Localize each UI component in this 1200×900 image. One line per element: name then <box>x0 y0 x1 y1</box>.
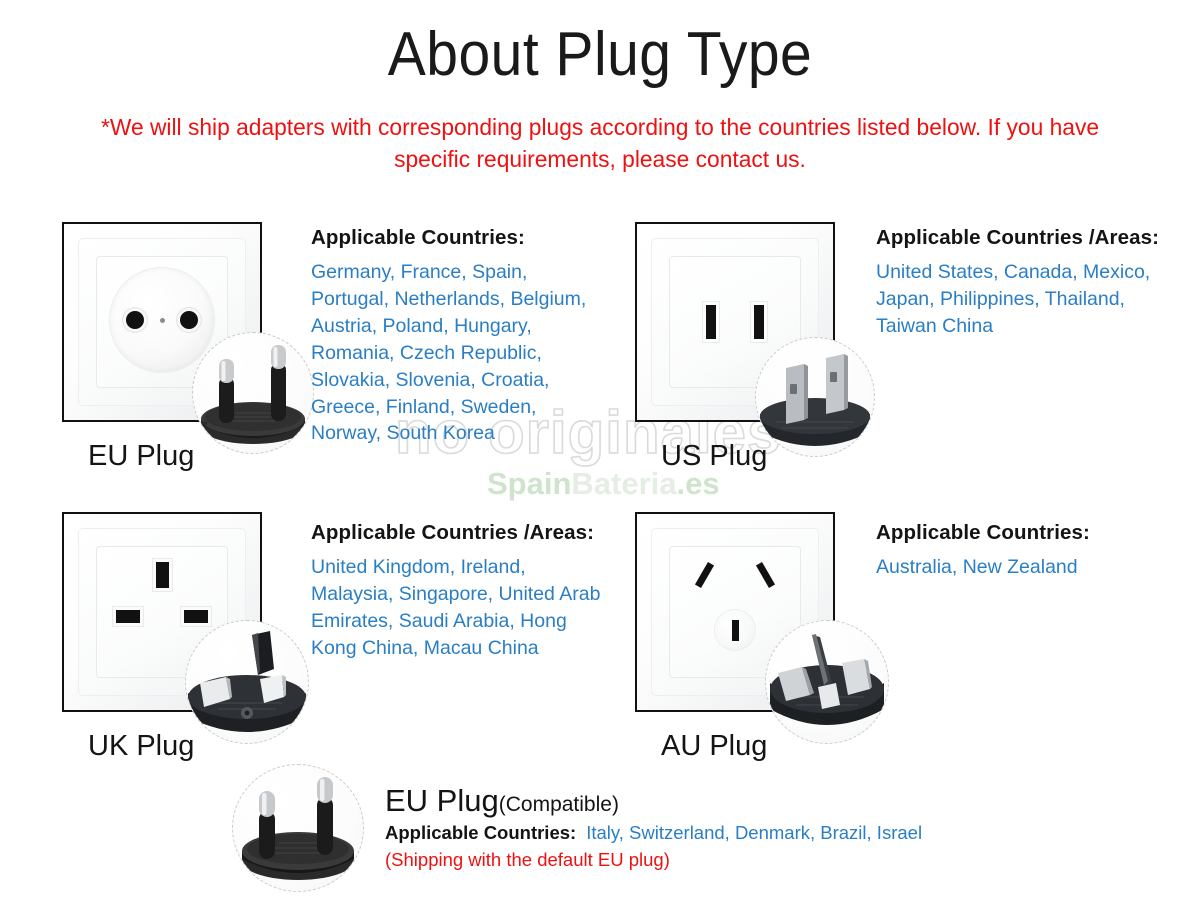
info-column-us: Applicable Countries /Areas: United Stat… <box>876 226 1176 340</box>
eu-hole-right <box>180 311 198 329</box>
plug-label-us: US Plug <box>661 440 767 473</box>
uk-earth-slot <box>156 562 169 588</box>
us-plug-drawing <box>756 338 874 456</box>
eu-compatible-plug-drawing <box>233 765 363 891</box>
info-column-uk: Applicable Countries /Areas: United King… <box>311 521 611 662</box>
applicable-countries-heading-uk: Applicable Countries /Areas: <box>311 521 611 545</box>
eu-center-pin <box>160 318 165 323</box>
eu-compatible-title-main: EU Plug <box>385 783 499 818</box>
applicable-countries-heading-us: Applicable Countries /Areas: <box>876 226 1176 250</box>
plug-label-uk: UK Plug <box>88 730 194 763</box>
us-slot-left <box>706 305 716 339</box>
eu-plug-drawing <box>193 333 313 453</box>
plug-label-eu: EU Plug <box>88 440 194 473</box>
us-slot-right <box>754 305 764 339</box>
watermark-brand-part1: Spain <box>487 466 571 501</box>
applicable-countries-heading-au: Applicable Countries: <box>876 521 1176 545</box>
au-slot-left <box>695 562 714 588</box>
au-slot-right <box>756 562 775 588</box>
eu-compatible-title-suffix: (Compatible) <box>499 793 619 816</box>
au-earth-slot <box>732 620 739 641</box>
page-title: About Plug Type <box>48 22 1152 87</box>
shipping-notice: *We will ship adapters with correspondin… <box>76 112 1124 176</box>
applicable-countries-heading-eu: Applicable Countries: <box>311 226 601 250</box>
au-plug-drawing <box>766 621 888 743</box>
uk-plug-photo-icon <box>185 620 309 744</box>
info-column-eu: Applicable Countries: Germany, France, S… <box>311 226 601 447</box>
uk-plug-drawing <box>186 621 308 743</box>
eu-plug-photo-icon <box>192 332 314 454</box>
eu-compatible-countries-values: Italy, Switzerland, Denmark, Brazil, Isr… <box>586 822 922 843</box>
applicable-countries-list-au: Australia, New Zealand <box>876 554 1176 581</box>
eu-compatible-plug-photo-icon <box>232 764 364 892</box>
info-column-au: Applicable Countries: Australia, New Zea… <box>876 521 1176 581</box>
eu-compatible-countries-row: Applicable Countries:Italy, Switzerland,… <box>385 822 922 844</box>
eu-compatible-shipping-note: (Shipping with the default EU plug) <box>385 849 670 871</box>
au-earth-recess <box>715 610 755 650</box>
us-plug-photo-icon <box>755 337 875 457</box>
applicable-countries-list-uk: United Kingdom, Ireland, Malaysia, Singa… <box>311 554 611 662</box>
applicable-countries-list-eu: Germany, France, Spain, Portugal, Nether… <box>311 259 601 447</box>
uk-slot-left <box>116 610 140 623</box>
eu-hole-left <box>126 311 144 329</box>
plug-label-au: AU Plug <box>661 730 767 763</box>
applicable-countries-list-us: United States, Canada, Mexico, Japan, Ph… <box>876 259 1176 340</box>
eu-compatible-title: EU Plug(Compatible) <box>385 783 619 819</box>
eu-compatible-countries-label: Applicable Countries: <box>385 822 576 843</box>
au-plug-photo-icon <box>765 620 889 744</box>
